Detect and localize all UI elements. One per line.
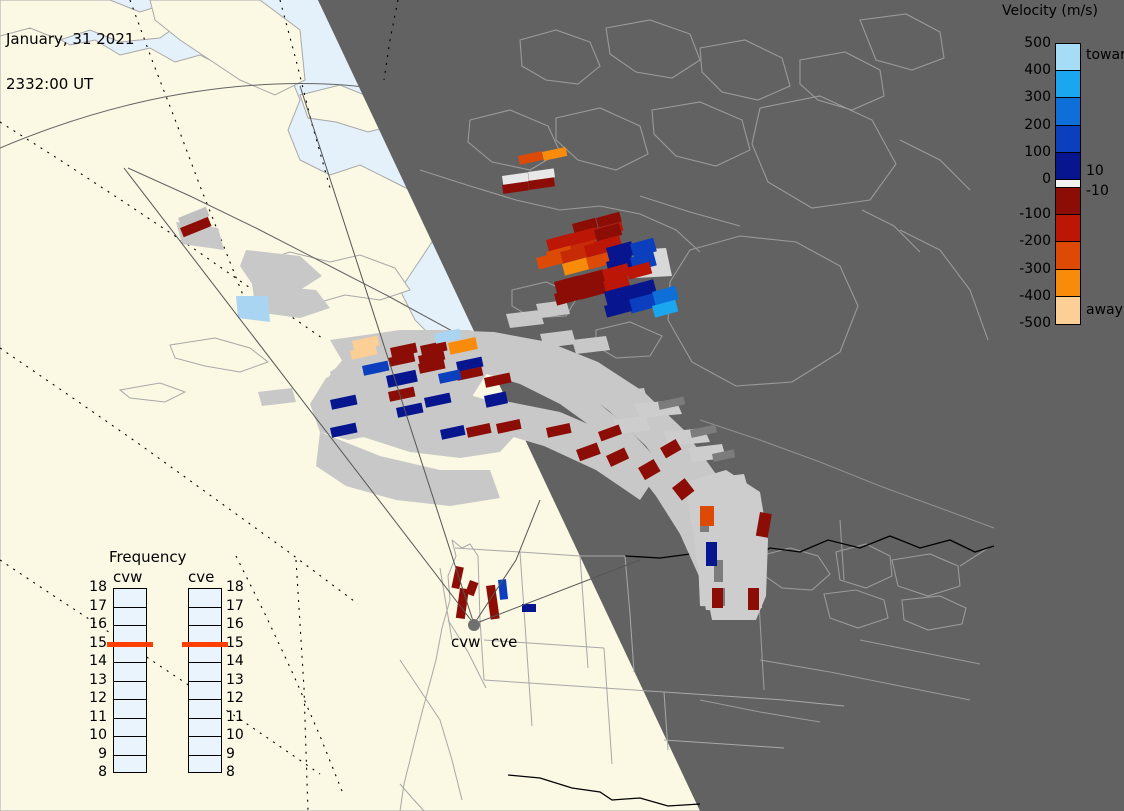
frequency-scale-value-16: 16	[226, 616, 244, 632]
colorbar-segment-away-3	[1056, 270, 1080, 297]
frequency-scale-value-15: 15	[226, 635, 244, 651]
colorbar-away-label: away	[1086, 302, 1123, 318]
colorbar-tick--100: -100	[1019, 206, 1051, 222]
frequency-legend-title: Frequency	[109, 548, 187, 566]
frequency-scale-value-13: 13	[85, 672, 107, 688]
frequency-scale-value-17: 17	[85, 598, 107, 614]
frequency-segment	[114, 756, 146, 775]
frequency-segment	[189, 589, 221, 608]
colorbar-segment-away-0	[1056, 188, 1080, 215]
site-label-cvw: cvw	[451, 635, 480, 650]
timestamp-time: 2332:00 UT	[6, 77, 134, 92]
radar-site-marker	[468, 619, 480, 631]
frequency-scale-value-14: 14	[85, 653, 107, 669]
frequency-segment	[114, 663, 146, 682]
colorbar-segment-toward-4	[1056, 153, 1080, 180]
colorbar-tick-500: 500	[1024, 35, 1051, 51]
frequency-bar-cve[interactable]	[188, 588, 222, 773]
frequency-scale-value-15: 15	[85, 635, 107, 651]
colorbar-segment-away-1	[1056, 215, 1080, 242]
frequency-scale-value-10: 10	[85, 727, 107, 743]
frequency-scale-value-8: 8	[85, 764, 107, 780]
colorbar-zero-upper-label: 10	[1086, 163, 1104, 179]
frequency-legend: Frequency cvw cve 18171615141312111098 1…	[85, 548, 265, 788]
frequency-segment	[189, 719, 221, 738]
colorbar-title: Velocity (m/s)	[1002, 3, 1098, 19]
colorbar-gradient[interactable]	[1055, 43, 1081, 325]
frequency-column-header-cvw: cvw	[113, 568, 142, 586]
frequency-scale-value-12: 12	[85, 690, 107, 706]
colorbar-tick--200: -200	[1019, 233, 1051, 249]
velocity-colorbar-panel: Velocity (m/s) 5004003002001000-100-200-…	[994, 0, 1124, 811]
frequency-segment	[189, 756, 221, 775]
frequency-scale-value-14: 14	[226, 653, 244, 669]
radar-velocity-map-screenshot: January, 31 2021 2332:00 UT cvw cve Freq…	[0, 0, 1124, 811]
colorbar-tick-400: 400	[1024, 62, 1051, 78]
colorbar-tick--500: -500	[1019, 315, 1051, 331]
frequency-segment	[114, 682, 146, 701]
frequency-scale-value-8: 8	[226, 764, 235, 780]
colorbar-segment-zero	[1056, 180, 1080, 188]
site-label-cve: cve	[491, 635, 517, 650]
frequency-segment	[114, 608, 146, 627]
colorbar-tick-300: 300	[1024, 89, 1051, 105]
map-panel[interactable]: January, 31 2021 2332:00 UT cvw cve Freq…	[0, 0, 994, 811]
frequency-scale-value-9: 9	[226, 746, 235, 762]
frequency-marker-cve	[182, 642, 228, 647]
colorbar-tick-0: 0	[1042, 171, 1051, 187]
frequency-scale-value-13: 13	[226, 672, 244, 688]
colorbar-tick-200: 200	[1024, 117, 1051, 133]
colorbar-segment-toward-0	[1056, 44, 1080, 71]
frequency-scale-value-16: 16	[85, 616, 107, 632]
timestamp-date: January, 31 2021	[6, 32, 134, 47]
frequency-scale-value-12: 12	[226, 690, 244, 706]
frequency-segment	[189, 700, 221, 719]
colorbar-tick--400: -400	[1019, 288, 1051, 304]
timestamp: January, 31 2021 2332:00 UT	[6, 2, 134, 122]
frequency-segment	[189, 608, 221, 627]
frequency-marker-cvw	[107, 642, 153, 647]
frequency-segment	[189, 682, 221, 701]
colorbar-segment-toward-2	[1056, 98, 1080, 125]
colorbar-zero-lower-label: -10	[1086, 183, 1109, 199]
frequency-scale-value-17: 17	[226, 598, 244, 614]
colorbar-tick--300: -300	[1019, 261, 1051, 277]
colorbar-toward-label: toward	[1086, 47, 1124, 63]
colorbar-segment-away-4	[1056, 297, 1080, 324]
frequency-segment	[114, 589, 146, 608]
frequency-bar-cvw[interactable]	[113, 588, 147, 773]
colorbar-segment-away-2	[1056, 242, 1080, 269]
frequency-segment	[189, 645, 221, 664]
frequency-segment	[114, 645, 146, 664]
colorbar-tick-100: 100	[1024, 144, 1051, 160]
frequency-segment	[189, 737, 221, 756]
frequency-scale-value-18: 18	[226, 579, 244, 595]
frequency-scale-value-11: 11	[85, 709, 107, 725]
frequency-scale-value-10: 10	[226, 727, 244, 743]
frequency-scale-value-9: 9	[85, 746, 107, 762]
frequency-segment	[114, 737, 146, 756]
frequency-scale-value-11: 11	[226, 709, 244, 725]
frequency-column-header-cve: cve	[188, 568, 214, 586]
frequency-segment	[189, 663, 221, 682]
colorbar-segment-toward-3	[1056, 126, 1080, 153]
colorbar-segment-toward-1	[1056, 71, 1080, 98]
frequency-scale-value-18: 18	[85, 579, 107, 595]
frequency-segment	[114, 700, 146, 719]
frequency-segment	[114, 719, 146, 738]
